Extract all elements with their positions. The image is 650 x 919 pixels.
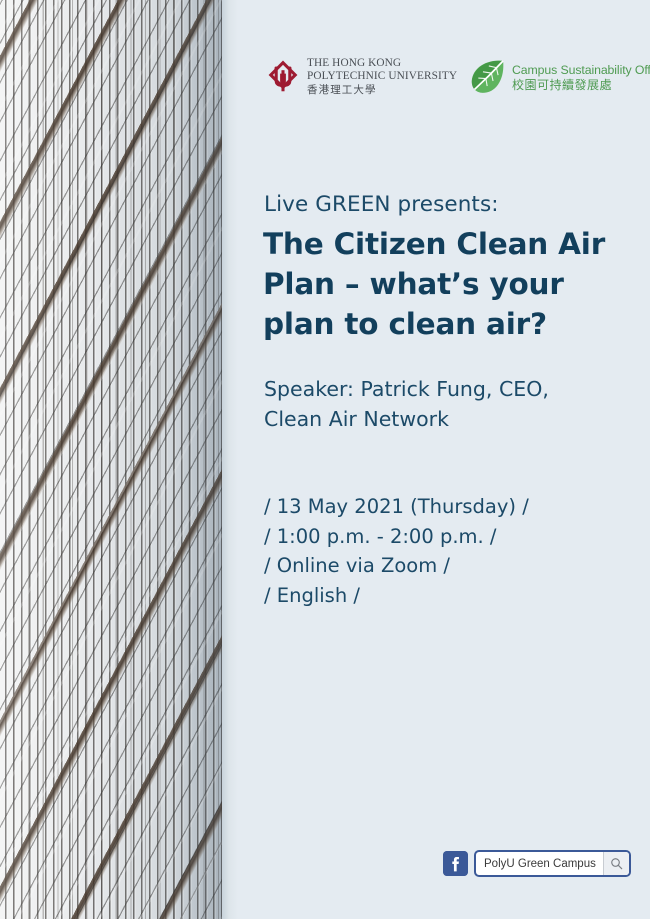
page-title-line-2: Plan – what’s your: [263, 264, 635, 304]
facebook-search-button[interactable]: [603, 852, 629, 875]
page-title: The Citizen Clean Air Plan – what’s your…: [263, 224, 635, 344]
skyscraper-facade-photo: [0, 0, 238, 919]
magnifier-icon: [610, 857, 623, 870]
facebook-badge[interactable]: PolyU Green Campus: [443, 850, 631, 877]
content-column: THE HONG KONG POLYTECHNIC UNIVERSITY 香港理…: [238, 0, 650, 919]
poster-root: THE HONG KONG POLYTECHNIC UNIVERSITY 香港理…: [0, 0, 650, 919]
polyu-name-chinese: 香港理工大學: [307, 85, 457, 96]
speaker-block: Speaker: Patrick Fung, CEO, Clean Air Ne…: [264, 374, 636, 434]
facebook-f-icon[interactable]: [443, 851, 468, 876]
page-title-line-1: The Citizen Clean Air: [263, 224, 635, 264]
event-details: / 13 May 2021 (Thursday) / / 1:00 p.m. -…: [264, 492, 636, 610]
speaker-line-2: Clean Air Network: [264, 404, 636, 434]
kicker-text: Live GREEN presents:: [264, 192, 499, 217]
cso-wordmark: Campus Sustainability Office 校園可持續發展處: [512, 64, 650, 92]
speaker-line-1: Speaker: Patrick Fung, CEO,: [264, 374, 636, 404]
event-detail-language: / English /: [264, 581, 636, 611]
hong-kong-polytechnic-university-logo: THE HONG KONG POLYTECHNIC UNIVERSITY 香港理…: [266, 58, 457, 95]
polyu-name-line1: THE HONG KONG: [307, 58, 457, 69]
facade-shading-overlay: [0, 0, 222, 919]
event-detail-venue: / Online via Zoom /: [264, 551, 636, 581]
facebook-search-value[interactable]: PolyU Green Campus: [476, 852, 603, 875]
event-detail-date: / 13 May 2021 (Thursday) /: [264, 492, 636, 522]
leaf-icon: [466, 55, 510, 97]
page-title-line-3: plan to clean air?: [263, 304, 635, 344]
sky-strip: [222, 0, 238, 919]
building-facade: [0, 0, 222, 919]
logo-row: THE HONG KONG POLYTECHNIC UNIVERSITY 香港理…: [266, 55, 638, 105]
polyu-wordmark: THE HONG KONG POLYTECHNIC UNIVERSITY 香港理…: [307, 58, 457, 95]
facebook-search-box[interactable]: PolyU Green Campus: [474, 850, 631, 877]
polyu-name-line2: POLYTECHNIC UNIVERSITY: [307, 71, 457, 82]
cso-name-english: Campus Sustainability Office: [512, 64, 650, 77]
cso-name-chinese: 校園可持續發展處: [512, 79, 650, 92]
polyu-emblem-icon: [266, 60, 300, 94]
event-detail-time: / 1:00 p.m. - 2:00 p.m. /: [264, 522, 636, 552]
campus-sustainability-office-logo: Campus Sustainability Office 校園可持續發展處: [466, 55, 650, 97]
